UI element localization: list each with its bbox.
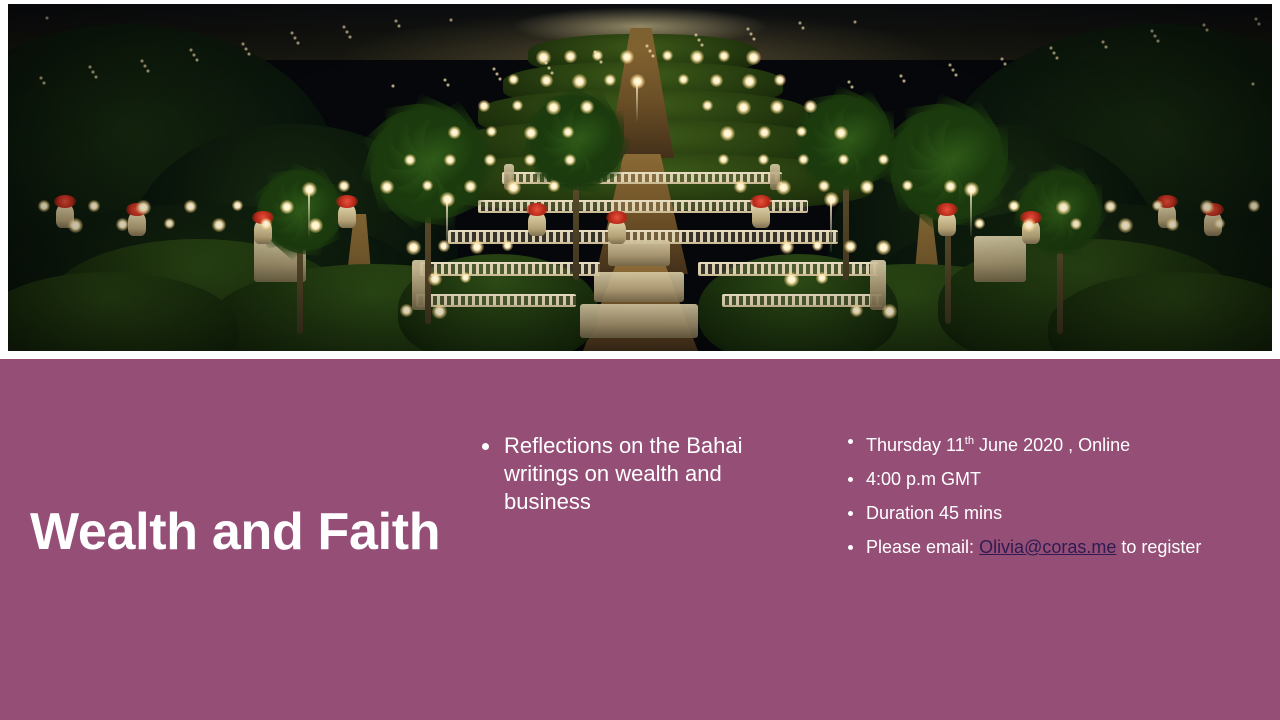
details-bullet-list: Thursday 11th June 2020 , Online 4:00 p.… bbox=[838, 430, 1238, 558]
garden-lamp bbox=[212, 218, 226, 232]
distant-light bbox=[1104, 45, 1108, 49]
red-flowers bbox=[526, 203, 548, 216]
distant-light bbox=[902, 79, 906, 83]
distant-light bbox=[648, 49, 652, 53]
garden-lamp bbox=[776, 180, 791, 195]
garden-lamp bbox=[562, 126, 574, 138]
bullet-item-reflections: Reflections on the Bahai writings on wea… bbox=[470, 432, 790, 516]
garden-lamp bbox=[604, 74, 616, 86]
lamp-head bbox=[440, 192, 455, 207]
distant-light bbox=[94, 75, 98, 79]
distant-light bbox=[39, 76, 43, 80]
distant-light bbox=[853, 20, 857, 24]
distant-light bbox=[1251, 82, 1255, 86]
date-ordinal-suffix: th bbox=[965, 435, 974, 447]
palm-tree bbox=[1018, 174, 1102, 334]
garden-lamp bbox=[718, 154, 729, 165]
garden-lamp bbox=[702, 100, 713, 111]
distant-light bbox=[749, 32, 753, 36]
distant-light bbox=[1202, 23, 1206, 27]
distant-light bbox=[449, 18, 453, 22]
garden-lamp bbox=[1022, 218, 1036, 232]
distant-light bbox=[1257, 22, 1261, 26]
distant-light bbox=[1153, 34, 1157, 38]
garden-lamp bbox=[882, 304, 897, 319]
distant-light bbox=[241, 42, 245, 46]
distant-light bbox=[948, 63, 952, 67]
garden-lamp bbox=[564, 154, 576, 166]
distant-light bbox=[91, 70, 95, 74]
garden-lamp bbox=[508, 74, 519, 85]
slide-title: Wealth and Faith bbox=[30, 505, 460, 560]
garden-lamp bbox=[850, 304, 863, 317]
garden-lamp bbox=[400, 304, 413, 317]
garden-lamp bbox=[758, 126, 771, 139]
garden-lamp bbox=[308, 218, 323, 233]
distant-light bbox=[801, 26, 805, 30]
garden-lamp bbox=[68, 218, 83, 233]
distant-light bbox=[143, 64, 147, 68]
distant-light bbox=[596, 55, 600, 59]
garden-lamp bbox=[432, 304, 447, 319]
distant-light bbox=[348, 35, 352, 39]
distant-light bbox=[550, 71, 554, 75]
garden-lamp bbox=[816, 272, 828, 284]
distant-light bbox=[697, 38, 701, 42]
garden-lamp bbox=[944, 180, 957, 193]
garden-lamp bbox=[620, 50, 634, 64]
garden-lamp bbox=[136, 200, 151, 215]
distant-light bbox=[192, 53, 196, 57]
garden-lamp bbox=[464, 180, 477, 193]
time-text: 4:00 p.m GMT bbox=[866, 469, 981, 489]
distant-light bbox=[495, 72, 499, 76]
garden-lamp bbox=[444, 154, 456, 166]
distant-light bbox=[342, 25, 346, 29]
garden-lamp bbox=[422, 180, 433, 191]
garden-lamp bbox=[572, 74, 587, 89]
garden-lamp bbox=[1166, 218, 1179, 231]
garden-lamp bbox=[780, 240, 794, 254]
distant-light bbox=[850, 85, 854, 89]
lamp-head bbox=[824, 192, 839, 207]
garden-lamp bbox=[1152, 200, 1163, 211]
distant-light bbox=[498, 77, 502, 81]
garden-lamp bbox=[524, 154, 536, 166]
garden-lamp bbox=[784, 272, 799, 287]
garden-lamp bbox=[506, 180, 521, 195]
garden-lamp bbox=[804, 100, 817, 113]
garden-lamp bbox=[838, 154, 849, 165]
garden-lamp bbox=[338, 180, 350, 192]
photo-artwork bbox=[8, 4, 1272, 351]
distant-light bbox=[746, 27, 750, 31]
garden-lamp bbox=[406, 240, 421, 255]
distant-light bbox=[951, 68, 955, 72]
distant-light bbox=[1205, 28, 1209, 32]
garden-lamp bbox=[564, 50, 577, 63]
garden-lamp bbox=[524, 126, 538, 140]
date-suffix: June 2020 , Online bbox=[974, 435, 1130, 455]
garden-lamp bbox=[734, 180, 747, 193]
garden-lamp bbox=[1070, 218, 1082, 230]
garden-lamp bbox=[812, 240, 823, 251]
garden-lamp bbox=[818, 180, 830, 192]
distant-light bbox=[446, 83, 450, 87]
distant-light bbox=[1052, 51, 1056, 55]
distant-light bbox=[1055, 56, 1059, 60]
bullet-item-time: 4:00 p.m GMT bbox=[838, 468, 1238, 490]
garden-lamp bbox=[718, 50, 730, 62]
bullet-item-date: Thursday 11th June 2020 , Online bbox=[838, 430, 1238, 456]
register-prefix: Please email: bbox=[866, 537, 979, 557]
garden-lamp bbox=[38, 200, 50, 212]
garden-lamp bbox=[834, 126, 848, 140]
garden-lamp bbox=[260, 218, 272, 230]
red-flowers bbox=[336, 195, 358, 208]
palm-tree bbox=[528, 100, 624, 280]
garden-lamp bbox=[746, 50, 761, 65]
red-flowers bbox=[606, 211, 628, 224]
distant-light bbox=[700, 43, 704, 47]
garden-lamp bbox=[1214, 218, 1225, 229]
distant-light bbox=[293, 36, 297, 40]
register-suffix: to register bbox=[1116, 537, 1201, 557]
distant-light bbox=[599, 60, 603, 64]
garden-lamp bbox=[742, 74, 757, 89]
garden-lamp bbox=[548, 180, 560, 192]
garden-lamp bbox=[502, 240, 513, 251]
garden-lamp bbox=[974, 218, 985, 229]
distant-light bbox=[42, 81, 46, 85]
garden-lamp bbox=[796, 126, 807, 137]
garden-lamp bbox=[774, 74, 786, 86]
garden-lamp bbox=[404, 154, 416, 166]
distant-light bbox=[651, 54, 655, 58]
garden-lamp bbox=[512, 100, 523, 111]
garden-lamp bbox=[546, 100, 561, 115]
garden-lamp bbox=[1056, 200, 1071, 215]
distant-light bbox=[195, 58, 199, 62]
garden-lamp bbox=[690, 50, 704, 64]
garden-lamp bbox=[1104, 200, 1117, 213]
distant-light bbox=[798, 21, 802, 25]
lamp-head bbox=[964, 182, 979, 197]
garden-lamp bbox=[902, 180, 913, 191]
distant-light bbox=[244, 47, 248, 51]
lamp-post bbox=[830, 200, 832, 252]
garden-lamp bbox=[486, 126, 497, 137]
distant-light bbox=[247, 52, 251, 56]
garden-lamp bbox=[736, 100, 751, 115]
garden-lamp bbox=[770, 100, 784, 114]
garden-lamp bbox=[798, 154, 809, 165]
stone-structure bbox=[580, 304, 698, 338]
garden-lamp bbox=[280, 200, 294, 214]
garden-lamp bbox=[438, 240, 450, 252]
distant-light bbox=[391, 84, 395, 88]
garden-lamp bbox=[448, 126, 461, 139]
garden-lamp bbox=[678, 74, 689, 85]
distant-light bbox=[1150, 29, 1154, 33]
red-flowers bbox=[54, 195, 76, 208]
middle-bullet-list: Reflections on the Bahai writings on wea… bbox=[470, 432, 790, 516]
distant-light bbox=[1254, 17, 1258, 21]
distant-light bbox=[443, 78, 447, 82]
distant-light bbox=[899, 74, 903, 78]
lamp-head bbox=[302, 182, 317, 197]
garden-lamp bbox=[876, 240, 891, 255]
distant-light bbox=[1000, 57, 1004, 61]
distant-light bbox=[1003, 62, 1007, 66]
distant-light bbox=[547, 66, 551, 70]
garden-lamp bbox=[758, 154, 769, 165]
palm-tree bbox=[258, 174, 342, 334]
middle-text-column: Reflections on the Bahai writings on wea… bbox=[470, 432, 790, 522]
email-link[interactable]: Olivia@coras.me bbox=[979, 537, 1116, 557]
red-flowers bbox=[750, 195, 772, 208]
garden-lamp bbox=[1248, 200, 1260, 212]
distant-light bbox=[544, 61, 548, 65]
bullet-text: Reflections on the Bahai writings on wea… bbox=[504, 433, 743, 514]
garden-lamp bbox=[184, 200, 197, 213]
garden-lamp bbox=[232, 200, 243, 211]
garden-lamp bbox=[580, 100, 594, 114]
distant-light bbox=[140, 59, 144, 63]
bullet-item-register: Please email: Olivia@coras.me to registe… bbox=[838, 536, 1238, 558]
garden-lamp bbox=[380, 180, 394, 194]
garden-lamp bbox=[164, 218, 175, 229]
palm-tree bbox=[368, 114, 488, 324]
distant-light bbox=[694, 33, 698, 37]
garden-lamp bbox=[662, 50, 673, 61]
distant-light bbox=[146, 69, 150, 73]
garden-lamp bbox=[484, 154, 496, 166]
date-prefix: Thursday 11 bbox=[866, 435, 965, 455]
garden-lamp bbox=[720, 126, 735, 141]
garden-lamp bbox=[710, 74, 723, 87]
garden-lamp bbox=[478, 100, 490, 112]
lamp-post bbox=[446, 200, 448, 252]
garden-lamp bbox=[860, 180, 874, 194]
garden-lamp bbox=[88, 200, 100, 212]
distant-light bbox=[290, 31, 294, 35]
distant-light bbox=[847, 80, 851, 84]
garden-lamp bbox=[116, 218, 129, 231]
right-text-column: Thursday 11th June 2020 , Online 4:00 p.… bbox=[838, 430, 1238, 570]
distant-light bbox=[1156, 39, 1160, 43]
distant-light bbox=[1049, 46, 1053, 50]
distant-light bbox=[88, 65, 92, 69]
distant-light bbox=[752, 37, 756, 41]
distant-light bbox=[397, 24, 401, 28]
distant-light bbox=[492, 67, 496, 71]
garden-lamp bbox=[460, 272, 471, 283]
distant-light bbox=[45, 16, 49, 20]
distant-light bbox=[645, 44, 649, 48]
bullet-item-duration: Duration 45 mins bbox=[838, 502, 1238, 524]
garden-lamp bbox=[428, 272, 442, 286]
red-flowers bbox=[936, 203, 958, 216]
bahai-gardens-night-photo bbox=[8, 4, 1272, 351]
distant-light bbox=[345, 30, 349, 34]
distant-light bbox=[593, 50, 597, 54]
garden-lamp bbox=[540, 74, 553, 87]
distant-light bbox=[189, 48, 193, 52]
garden-lamp bbox=[1200, 200, 1214, 214]
garden-lamp bbox=[470, 240, 484, 254]
duration-text: Duration 45 mins bbox=[866, 503, 1002, 523]
lamp-head bbox=[630, 74, 645, 89]
banner-image-frame bbox=[0, 0, 1280, 359]
presentation-slide: Wealth and Faith Reflections on the Baha… bbox=[0, 0, 1280, 720]
distant-light bbox=[296, 41, 300, 45]
distant-light bbox=[1101, 40, 1105, 44]
garden-lamp bbox=[878, 154, 889, 165]
garden-lamp bbox=[844, 240, 857, 253]
garden-lamp bbox=[1008, 200, 1020, 212]
garden-lamp bbox=[1118, 218, 1133, 233]
distant-light bbox=[394, 19, 398, 23]
distant-light bbox=[954, 73, 958, 77]
